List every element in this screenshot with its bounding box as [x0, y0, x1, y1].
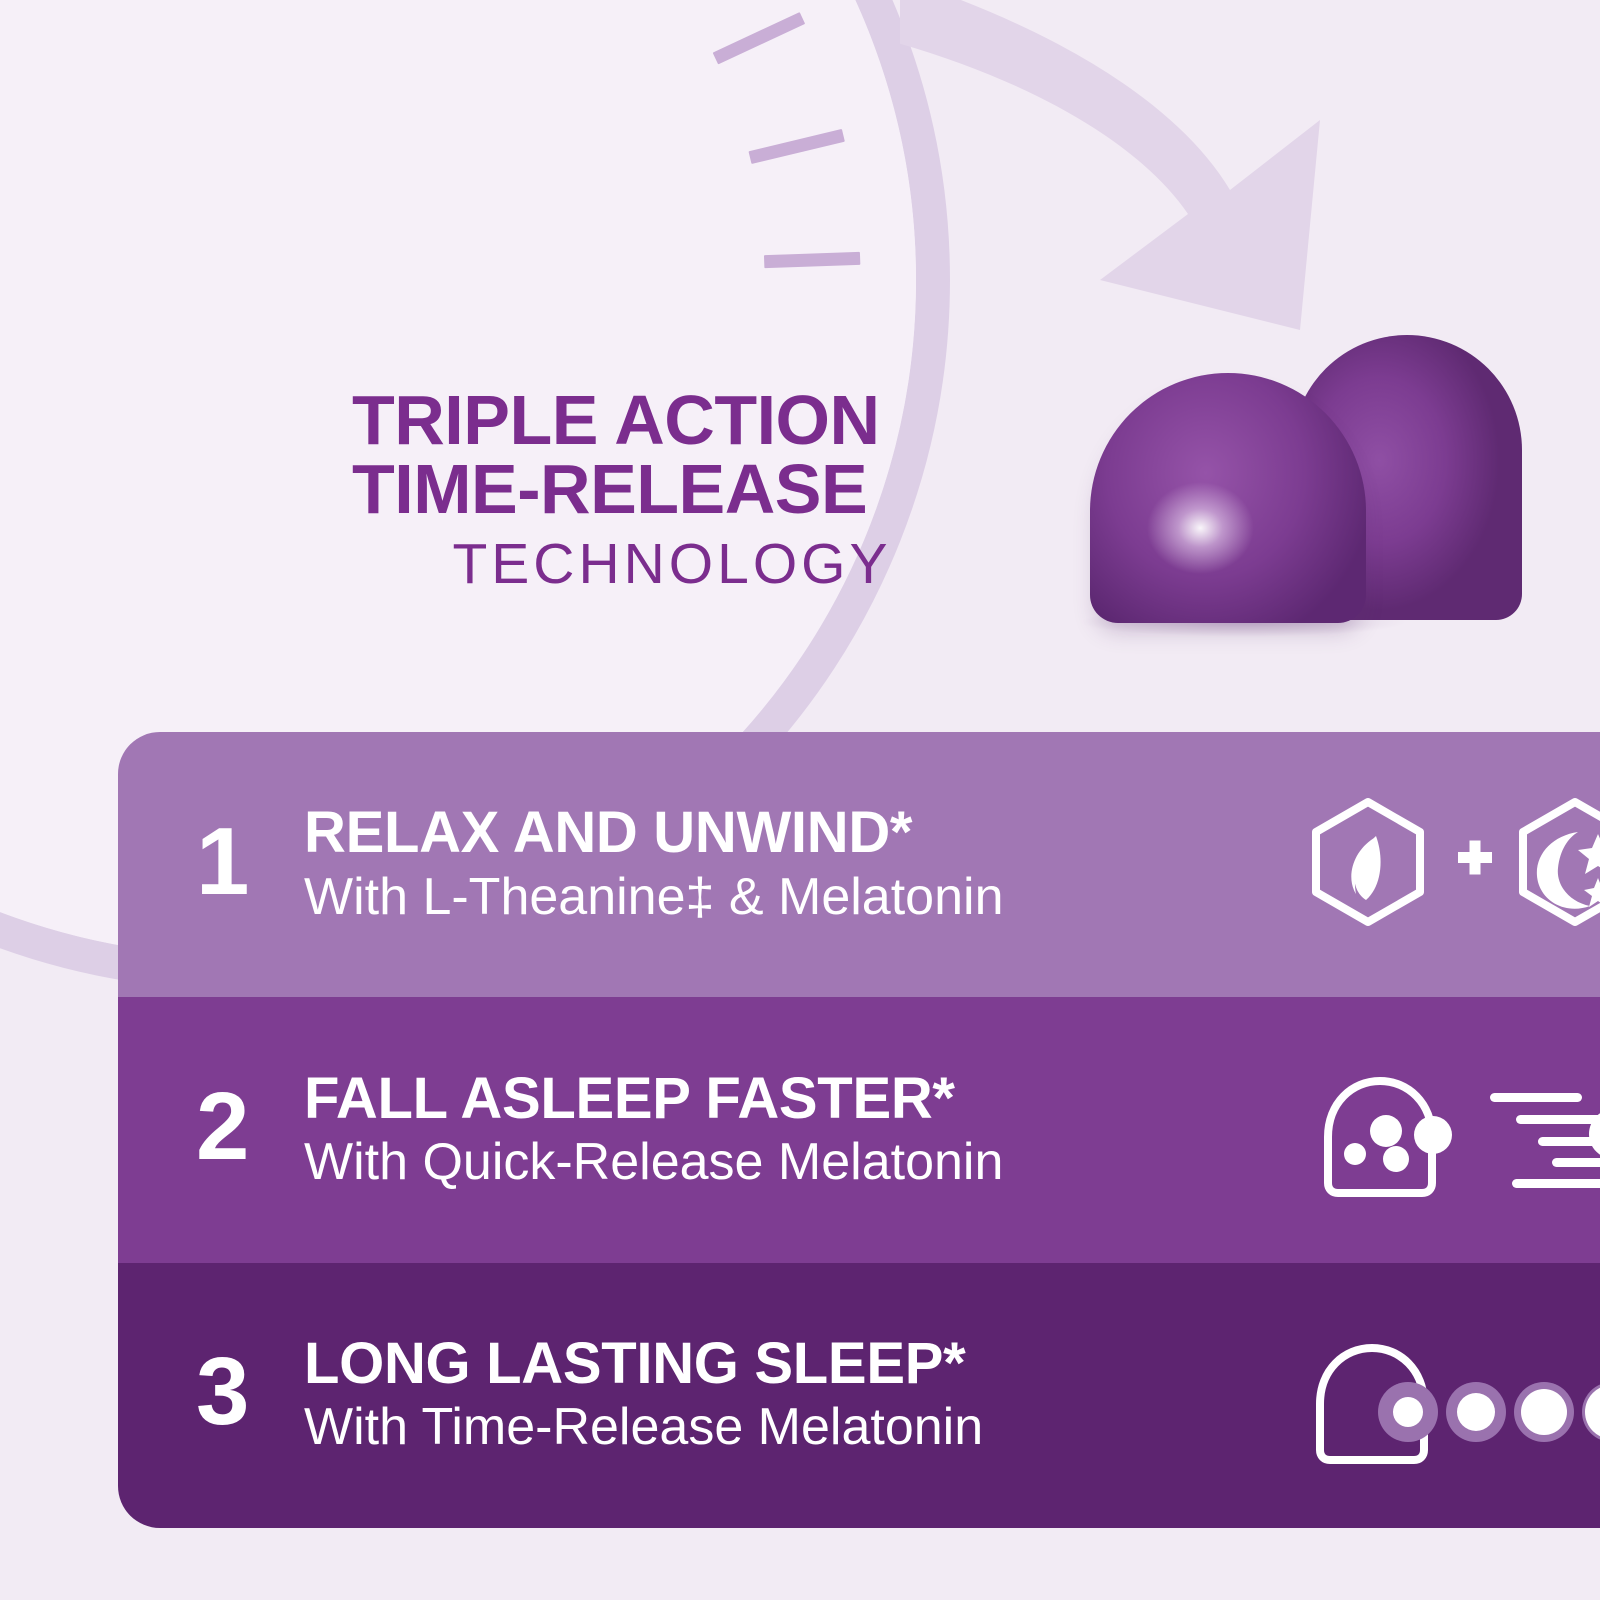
- benefit-row-2[interactable]: 2 FALL ASLEEP FASTER* With Quick-Release…: [118, 997, 1600, 1262]
- benefit-text-3: LONG LASTING SLEEP* With Time-Release Me…: [304, 1334, 1284, 1457]
- benefit-icons-3: [1298, 1320, 1600, 1470]
- page-title: TRIPLE ACTION TIME-RELEASE TECHNOLOGY: [352, 386, 992, 600]
- two-purple-gummies-photo: [1030, 315, 1550, 685]
- benefit-icons-1: [1298, 790, 1600, 940]
- moon-stars-hexagon-icon: [1523, 802, 1600, 922]
- benefit-subtitle-1: With L-Theanine‡ & Melatonin: [304, 868, 1284, 926]
- benefit-subtitle-2: With Quick-Release Melatonin: [304, 1133, 1284, 1191]
- infographic-canvas: TRIPLE ACTION TIME-RELEASE TECHNOLOGY 1 …: [0, 0, 1600, 1600]
- benefit-title-3: LONG LASTING SLEEP*: [304, 1334, 1284, 1394]
- benefit-number-3: 3: [196, 1344, 292, 1440]
- clock-tick: [748, 129, 844, 164]
- clock-tick: [763, 252, 859, 268]
- benefit-title-2: FALL ASLEEP FASTER*: [304, 1069, 1284, 1129]
- benefit-icons-2: [1298, 1055, 1600, 1205]
- benefit-number-1: 1: [196, 814, 292, 910]
- headline-line-1: TRIPLE ACTION: [352, 386, 992, 455]
- plus-icon: [1458, 840, 1492, 874]
- headline-line-3: TECHNOLOGY: [352, 529, 992, 600]
- benefit-text-2: FALL ASLEEP FASTER* With Quick-Release M…: [304, 1069, 1284, 1192]
- benefit-text-1: RELAX AND UNWIND* With L-Theanine‡ & Mel…: [304, 803, 1284, 926]
- benefit-number-2: 2: [196, 1079, 292, 1175]
- benefits-card: 1 RELAX AND UNWIND* With L-Theanine‡ & M…: [118, 732, 1600, 1528]
- benefit-title-1: RELAX AND UNWIND*: [304, 803, 1284, 863]
- benefit-row-3[interactable]: 3 LONG LASTING SLEEP* With Time-Release …: [118, 1263, 1600, 1528]
- benefit-row-1[interactable]: 1 RELAX AND UNWIND* With L-Theanine‡ & M…: [118, 732, 1600, 997]
- gummy-quick-release-icon: [1328, 1081, 1452, 1193]
- benefit-subtitle-3: With Time-Release Melatonin: [304, 1398, 1284, 1456]
- headline-line-2: TIME-RELEASE: [352, 455, 992, 524]
- leaf-hexagon-icon: [1316, 802, 1420, 922]
- release-dots-icon: [1378, 1382, 1600, 1442]
- speed-lines-icon: [1490, 1093, 1600, 1188]
- clock-tick: [712, 12, 804, 64]
